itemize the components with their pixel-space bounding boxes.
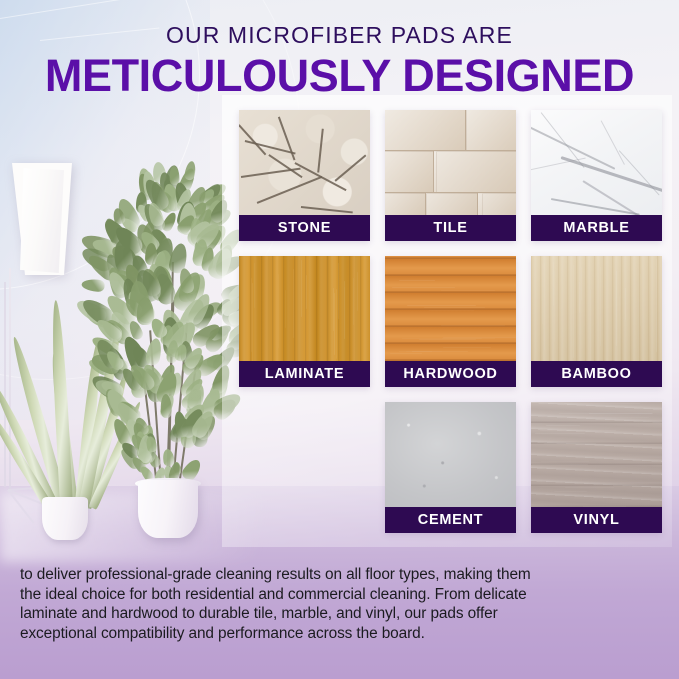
body-paragraph: to deliver professional-grade cleaning r…: [20, 565, 540, 643]
tile-grout-cell: [385, 110, 467, 152]
card-label-bamboo: BAMBOO: [531, 361, 662, 387]
wood-grain-line: [581, 267, 582, 300]
wood-grain-line: [625, 288, 626, 321]
wood-grain-line: [565, 487, 614, 488]
texture-tile: [385, 110, 516, 215]
floor-type-grid: STONETILEMARBLELAMINATEHARDWOODBAMBOOCEM…: [239, 110, 662, 533]
wood-grain-line: [542, 264, 543, 324]
wood-grain-line: [540, 430, 616, 431]
card-label-cement: CEMENT: [385, 507, 516, 533]
floor-type-card-bamboo[interactable]: BAMBOO: [531, 256, 662, 387]
wood-grain-line: [336, 289, 337, 359]
wood-grain-line: [402, 338, 482, 339]
stone-crack-line: [257, 176, 322, 204]
wood-grain-line: [407, 305, 476, 306]
swatch-cement: [385, 402, 516, 507]
floor-type-card-marble[interactable]: MARBLE: [531, 110, 662, 241]
floor-type-card-hardwood[interactable]: HARDWOOD: [385, 256, 516, 387]
wood-grain-line: [656, 259, 657, 351]
wood-grain-line: [424, 307, 485, 308]
wood-grain-line: [554, 491, 587, 492]
wood-grain-line: [293, 269, 294, 337]
floor-type-card-cement[interactable]: CEMENT: [385, 402, 516, 533]
lamp-pole: [9, 268, 11, 493]
texture-laminate: [239, 256, 370, 361]
texture-hardwood: [385, 256, 516, 361]
wood-grain-line: [443, 347, 490, 348]
card-label-tile: TILE: [385, 215, 516, 241]
wood-grain-line: [301, 260, 302, 317]
wood-grain-line: [569, 417, 649, 418]
stone-crack-line: [318, 129, 324, 173]
wood-grain-line: [306, 275, 307, 309]
wood-grain-line: [399, 280, 435, 281]
swatch-vinyl: [531, 402, 662, 507]
texture-cement: [385, 402, 516, 507]
wood-grain-line: [544, 443, 597, 444]
tile-grout-cell: [477, 192, 516, 215]
wood-grain-line: [638, 270, 639, 361]
wood-grain-line: [353, 278, 354, 324]
wood-grain-line: [412, 351, 468, 352]
stone-crack-line: [334, 154, 366, 181]
card-label-laminate: LAMINATE: [239, 361, 370, 387]
wood-grain-line: [583, 457, 662, 458]
wood-grain-line: [419, 339, 476, 340]
snake-plant-pot: [42, 497, 88, 540]
stone-crack-line: [239, 124, 266, 155]
wood-grain-line: [590, 290, 591, 361]
wood-grain-line: [600, 267, 601, 346]
marble-vein: [618, 150, 659, 196]
wood-grain-line: [573, 265, 574, 358]
wood-grain-line: [429, 310, 475, 311]
ficus-tree-pot: [138, 480, 198, 538]
stone-crack-line: [278, 117, 295, 161]
wood-grain-line: [559, 413, 653, 414]
wood-grain-line: [278, 274, 279, 348]
wood-grain-line: [344, 287, 345, 361]
marble-vein: [561, 156, 662, 192]
card-label-marble: MARBLE: [531, 215, 662, 241]
wood-grain-line: [544, 263, 545, 349]
texture-bamboo: [531, 256, 662, 361]
wood-grain-line: [338, 263, 339, 318]
wood-grain-line: [640, 274, 641, 326]
swatch-laminate: [239, 256, 370, 361]
tile-grout-cell: [433, 150, 516, 194]
lamp-cord: [4, 282, 6, 487]
wood-grain-line: [357, 272, 358, 311]
swatch-hardwood: [385, 256, 516, 361]
wood-grain-line: [390, 353, 421, 354]
swatch-bamboo: [531, 256, 662, 361]
swatch-marble: [531, 110, 662, 215]
wood-grain-line: [254, 263, 255, 308]
wood-grain-line: [546, 425, 580, 426]
wood-grain-line: [541, 461, 589, 462]
floor-type-card-vinyl[interactable]: VINYL: [531, 402, 662, 533]
wood-grain-line: [535, 433, 585, 434]
wood-grain-line: [441, 325, 506, 326]
floor-type-card-tile[interactable]: TILE: [385, 110, 516, 241]
wood-grain-line: [616, 271, 617, 346]
card-label-vinyl: VINYL: [531, 507, 662, 533]
tile-grout-cell: [385, 150, 437, 194]
headline-subtitle: OUR MICROFIBER PADS ARE: [0, 22, 679, 49]
stone-crack-line: [301, 206, 353, 213]
wood-grain-line: [334, 293, 335, 356]
wood-grain-line: [285, 290, 286, 328]
floor-type-card-laminate[interactable]: LAMINATE: [239, 256, 370, 387]
lamp-shade-highlight: [20, 168, 64, 273]
floor-type-card-stone[interactable]: STONE: [239, 110, 370, 241]
card-label-hardwood: HARDWOOD: [385, 361, 516, 387]
tile-grout-cell: [465, 110, 516, 152]
stone-crack-line: [269, 154, 303, 178]
wood-grain-line: [585, 456, 662, 457]
card-label-stone: STONE: [239, 215, 370, 241]
wood-grain-line: [441, 290, 495, 291]
texture-marble: [531, 110, 662, 215]
tile-grout-cell: [425, 192, 483, 215]
wood-grain-line: [532, 464, 588, 465]
marble-vein: [601, 120, 625, 165]
grid-cell-empty: [239, 402, 370, 533]
swatch-stone: [239, 110, 370, 215]
texture-vinyl: [531, 402, 662, 507]
infographic-canvas: OUR MICROFIBER PADS ARE METICULOUSLY DES…: [0, 0, 679, 679]
wood-grain-line: [565, 482, 662, 483]
wood-grain-line: [564, 403, 639, 404]
swatch-tile: [385, 110, 516, 215]
texture-stone: [239, 110, 370, 215]
wood-grain-line: [554, 271, 555, 342]
wood-grain-line: [392, 287, 455, 288]
wood-grain-line: [619, 296, 620, 361]
tile-grout-cell: [385, 192, 427, 215]
